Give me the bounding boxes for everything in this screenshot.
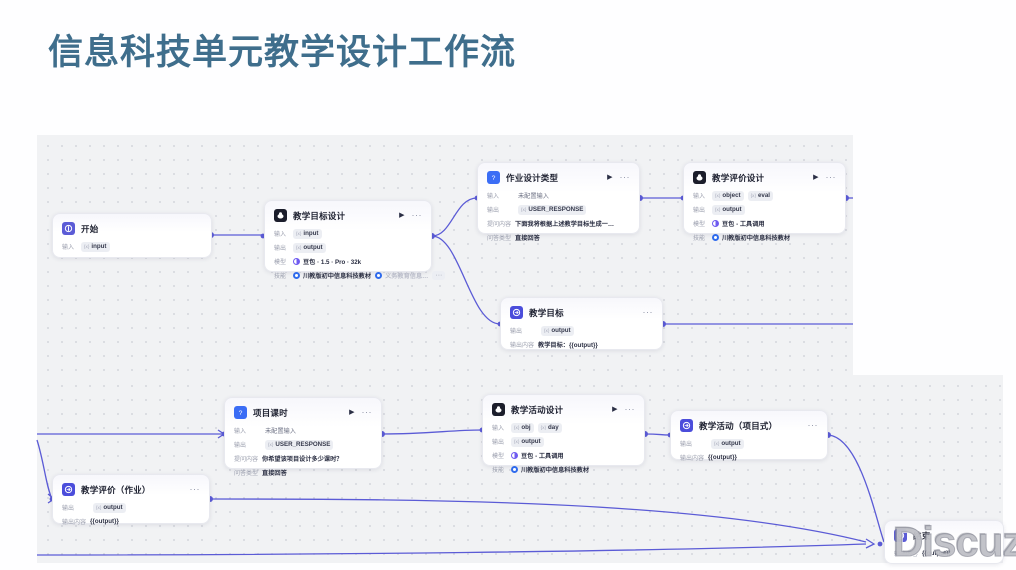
chip-output[interactable]: {x}USER_RESPONSE [518,205,586,215]
row-label-model: 模型 [693,219,708,228]
more-icon[interactable]: ··· [412,211,423,220]
var-tag: {x} [521,207,526,212]
row-input: 输入 {x}object {x}eval [693,190,836,201]
input-value: 未配置输入 [518,191,549,200]
ask-icon: ? [487,171,500,184]
row-label-model: 模型 [274,257,289,266]
chip-output[interactable]: {x}output [712,205,745,215]
chip-output[interactable]: {x}output [541,326,574,336]
chip-text: output [722,206,741,213]
chip-text: input [303,230,318,237]
node-title: 结束 [913,530,930,542]
node-header: 教学评价（作业） ··· [62,482,200,497]
var-tag: {x} [714,441,719,446]
node-head-actions: ··· [190,485,201,494]
node-head-actions: ··· [808,421,819,430]
row-label-input: 输入 [62,242,77,251]
chip-text: USER_RESPONSE [528,206,583,213]
svg-text:?: ? [239,410,243,417]
row-input: 输入 {x}obj {x}day [492,422,635,433]
node-header: 教学活动设计 ▶ ··· [492,402,635,417]
node-body: 输入 {x}object {x}eval 输出 {x}output 模型 豆包 … [693,190,836,243]
row-label-answer-type: 问答类型 [234,468,258,477]
var-tag: {x} [544,328,549,333]
row-label-input: 输入 [274,229,289,238]
run-icon[interactable]: ▶ [607,174,612,181]
chip-input[interactable]: {x}input [81,242,110,252]
row-label-output-content: 输出内容 [894,549,918,558]
run-icon[interactable]: ▶ [813,174,818,181]
var-tag: {x} [715,193,720,198]
node-title: 教学活动（项目式） [699,420,777,432]
var-tag: {x} [84,244,89,249]
node-project-periods[interactable]: ? 项目课时 ▶ ··· 输入 未配置输入 输出 {x}USER_RESPONS… [224,397,382,469]
chip-text: output [521,438,540,445]
row-output-content: 输出内容 {{output}} [894,548,994,559]
node-body: 输出 {x}output 输出内容 {{output}} [680,438,818,463]
var-tag: {x} [541,425,546,430]
node-body: 输出 {x}output 输出内容 教学目标：{{output}} [510,325,653,350]
ask-icon: ? [234,406,247,419]
output-content-value: {{output}} [708,454,737,461]
chip-text: output [103,504,122,511]
node-title: 项目课时 [253,407,288,419]
node-header: 开始 [62,221,202,236]
row-label-output-content: 输出内容 [62,517,86,526]
row-output: 输出 {x}output [510,325,653,336]
run-icon[interactable]: ▶ [612,406,617,413]
row-output: 输出 {x}output [62,502,200,513]
row-label-output-content: 输出内容 [510,340,534,349]
var-tag: {x} [296,245,301,250]
end-icon [894,529,907,542]
row-skill: 技能 川教版初中信息科技教材 [693,232,836,243]
model-chip[interactable]: 豆包 - 工具调用 [511,451,564,460]
node-teaching-goal-design[interactable]: 教学目标设计 ▶ ··· 输入 {x}input 输出 {x}output 模型… [264,200,432,272]
row-label-model: 模型 [492,451,507,460]
node-body: 输入 {x}input 输出 {x}output 模型 豆包 · 1.5 · P… [274,228,422,281]
node-header: 教学评价设计 ▶ ··· [693,170,836,185]
skill-icon [293,272,300,279]
row-skill: 技能 川教版初中信息科技教材 义务教育信息… ··· [274,270,422,281]
row-label-question: 提问内容 [234,454,258,463]
skill-icon [511,466,518,473]
question-value: 下面我将根据上述教学目标生成一… [515,219,614,228]
node-teaching-activity-output[interactable]: 教学活动（项目式） ··· 输出 {x}output 输出内容 {{output… [670,410,828,460]
more-icon[interactable]: ··· [190,485,201,494]
row-label-skill: 技能 [492,465,507,474]
model-chip[interactable]: 豆包 · 1.5 · Pro · 32k [293,257,361,266]
output-icon [62,483,75,496]
node-homework-design-type[interactable]: ? 作业设计类型 ▶ ··· 输入 未配置输入 输出 {x}USER_RESPO… [477,162,640,234]
node-head-actions: ··· [643,308,654,317]
row-label-output: 输出 [234,440,261,449]
row-label-input: 输入 [234,426,261,435]
chip-text: input [91,243,106,250]
var-tag: {x} [751,193,756,198]
skill-name: 义务教育信息… [385,271,428,280]
more-icon[interactable]: ··· [362,408,373,417]
node-teaching-goal-output[interactable]: 教学目标 ··· 输出 {x}output 输出内容 教学目标：{{output… [500,297,663,350]
chip-text: obj [521,424,530,431]
skill-icon [712,234,719,241]
chip-input[interactable]: {x}input [293,229,322,239]
row-skill: 技能 川教版初中信息科技教材 [492,464,635,475]
output-icon [510,306,523,319]
row-label-input: 输入 [693,191,708,200]
model-icon [511,452,518,459]
node-header: 结束 [894,528,994,543]
row-label-output: 输出 [680,439,707,448]
row-label-output: 输出 [693,205,708,214]
row-input: 输入 {x}input [62,241,202,252]
chip-input-1[interactable]: {x}object [712,191,744,201]
skill-chip-1[interactable]: 川教版初中信息科技教材 [712,233,790,242]
model-name: 豆包 · 1.5 · Pro · 32k [303,257,361,266]
chip-output[interactable]: {x}output [93,503,126,513]
node-end[interactable]: 结束 输出内容 {{output}} [884,520,1004,564]
more-icon[interactable]: ··· [826,173,837,182]
node-title: 教学评价（作业） [81,484,151,496]
more-icon[interactable]: ··· [808,421,819,430]
chip-input-1[interactable]: {x}obj [511,423,534,433]
node-teaching-evaluation-design[interactable]: 教学评价设计 ▶ ··· 输入 {x}object {x}eval 输出 {x}… [683,162,846,234]
row-label-output: 输出 [274,243,289,252]
model-icon [712,220,719,227]
var-tag: {x} [268,442,273,447]
chip-output[interactable]: {x}USER_RESPONSE [265,440,333,450]
more-icon[interactable]: ··· [620,173,631,182]
input-value: 未配置输入 [265,426,296,435]
node-header: 教学目标 ··· [510,305,653,320]
node-body: 输入 {x}obj {x}day 输出 {x}output 模型 豆包 - 工具… [492,422,635,475]
node-teaching-evaluation-output[interactable]: 教学评价（作业） ··· 输出 {x}output 输出内容 {{output}… [52,474,210,524]
llm-icon [693,171,706,184]
chip-text: USER_RESPONSE [275,441,330,448]
output-content-value: {{output}} [90,518,119,525]
row-label-input: 输入 [487,191,514,200]
chip-input-2[interactable]: {x}day [538,423,562,433]
model-chip[interactable]: 豆包 - 工具调用 [712,219,765,228]
row-input: 输入 未配置输入 [234,425,372,436]
row-answer-type: 问答类型 直接回答 [234,467,372,478]
output-content-value: 教学目标：{{output}} [538,340,598,349]
row-label-skill: 技能 [274,271,289,280]
row-output-content: 输出内容 {{output}} [680,452,818,463]
chip-text: output [721,440,740,447]
more-icon[interactable]: ··· [625,405,636,414]
node-body: 输入 未配置输入 输出 {x}USER_RESPONSE 提问内容 下面我将根据… [487,190,630,243]
row-output-content: 输出内容 {{output}} [62,516,200,527]
node-header: ? 作业设计类型 ▶ ··· [487,170,630,185]
node-header: 教学目标设计 ▶ ··· [274,208,422,223]
node-title: 教学活动设计 [511,404,563,416]
row-output-content: 输出内容 教学目标：{{output}} [510,339,653,350]
node-head-actions: ▶ ··· [607,173,630,182]
more-icon[interactable]: ··· [643,308,654,317]
chip-output[interactable]: {x}output [711,439,744,449]
row-model: 模型 豆包 - 工具调用 [693,218,836,229]
row-input: 输入 未配置输入 [487,190,630,201]
node-body: 输入 {x}input [62,241,202,252]
row-label-output-content: 输出内容 [680,453,704,462]
row-label-output: 输出 [62,503,89,512]
svg-text:?: ? [492,175,496,182]
question-value: 你希望该项目设计多少课时？ [262,454,342,463]
row-answer-type: 问答类型 直接回答 [487,232,630,243]
run-icon[interactable]: ▶ [399,212,404,219]
chip-text: day [548,424,559,431]
answer-type-value: 直接回答 [515,233,540,242]
chip-text: object [722,192,740,199]
node-body: 输出 {x}output 输出内容 {{output}} [62,502,200,527]
start-icon [62,222,75,235]
row-label-skill: 技能 [693,233,708,242]
node-header: 教学活动（项目式） ··· [680,418,818,433]
node-head-actions: ▶ ··· [349,408,372,417]
chip-input-2[interactable]: {x}eval [748,191,773,201]
skill-name: 川教版初中信息科技教材 [303,271,371,280]
output-content-value: {{output}} [922,550,951,557]
row-output: 输出 {x}output [680,438,818,449]
node-body: 输出内容 {{output}} [894,548,994,559]
chip-text: output [303,244,322,251]
row-output: 输出 {x}USER_RESPONSE [234,439,372,450]
node-header: ? 项目课时 ▶ ··· [234,405,372,420]
skill-chip-1[interactable]: 川教版初中信息科技教材 [293,271,371,280]
row-label-output: 输出 [487,205,514,214]
model-name: 豆包 - 工具调用 [722,219,765,228]
model-name: 豆包 - 工具调用 [521,451,564,460]
node-head-actions: ▶ ··· [813,173,836,182]
row-model: 模型 豆包 · 1.5 · Pro · 32k [274,256,422,267]
skill-chip-1[interactable]: 川教版初中信息科技教材 [511,465,589,474]
var-tag: {x} [96,505,101,510]
row-output: 输出 {x}output [492,436,635,447]
row-input: 输入 {x}input [274,228,422,239]
skill-more-button[interactable]: ··· [432,271,445,280]
chip-output[interactable]: {x}output [511,437,544,447]
row-label-output: 输出 [492,437,507,446]
node-title: 教学目标 [529,307,564,319]
skill-name: 川教版初中信息科技教材 [521,465,589,474]
row-question: 提问内容 下面我将根据上述教学目标生成一… [487,218,630,229]
skill-icon [375,272,382,279]
row-label-answer-type: 问答类型 [487,233,511,242]
node-head-actions: ▶ ··· [399,211,422,220]
node-body: 输入 未配置输入 输出 {x}USER_RESPONSE 提问内容 你希望该项目… [234,425,372,478]
skill-name: 川教版初中信息科技教材 [722,233,790,242]
run-icon[interactable]: ▶ [349,409,354,416]
node-start[interactable]: 开始 输入 {x}input [52,213,212,258]
row-label-output: 输出 [510,326,537,335]
chip-output[interactable]: {x}output [293,243,326,253]
row-question: 提问内容 你希望该项目设计多少课时？ [234,453,372,464]
var-tag: {x} [514,439,519,444]
workflow-page: 信息科技单元教学设计工作流 [0,0,1016,570]
model-icon [293,258,300,265]
var-tag: {x} [514,425,519,430]
row-model: 模型 豆包 - 工具调用 [492,450,635,461]
node-title: 教学评价设计 [712,172,764,184]
row-output: 输出 {x}USER_RESPONSE [487,204,630,215]
node-teaching-activity-design[interactable]: 教学活动设计 ▶ ··· 输入 {x}obj {x}day 输出 {x}outp… [482,394,645,466]
page-title: 信息科技单元教学设计工作流 [48,24,516,75]
var-tag: {x} [715,207,720,212]
node-title: 教学目标设计 [293,210,345,222]
node-title: 作业设计类型 [506,172,558,184]
llm-icon [492,403,505,416]
row-output: 输出 {x}output [693,204,836,215]
node-title: 开始 [81,223,98,235]
chip-text: eval [758,192,770,199]
row-output: 输出 {x}output [274,242,422,253]
skill-chip-2[interactable]: 义务教育信息… [375,271,428,280]
row-label-question: 提问内容 [487,219,511,228]
var-tag: {x} [296,231,301,236]
node-head-actions: ▶ ··· [612,405,635,414]
llm-icon [274,209,287,222]
row-label-input: 输入 [492,423,507,432]
output-icon [680,419,693,432]
answer-type-value: 直接回答 [262,468,287,477]
chip-text: output [551,327,570,334]
